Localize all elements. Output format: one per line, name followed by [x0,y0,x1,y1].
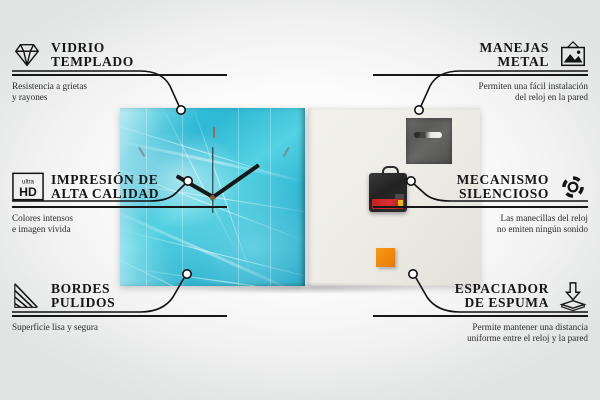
callout-impresion-alta-calidad[interactable]: ultra HD IMPRESIÓN DE ALTA CALIDAD Color… [12,172,227,235]
callout-divider [12,206,227,208]
callout-mecanismo-silencioso[interactable]: MECANISMO SILENCIOSO Las manecillas del … [373,172,588,235]
callout-divider [373,206,588,208]
callout-title: VIDRIO TEMPLADO [51,41,134,70]
callout-subtitle: Resistencia a grietas y rayones [12,81,227,104]
foam-spacer [376,248,395,267]
callout-divider [373,315,588,317]
callout-subtitle: Superficie lisa y segura [12,322,227,333]
ultra-hd-icon: ultra HD [12,172,42,202]
callout-title: MECANISMO SILENCIOSO [457,173,549,202]
callout-title: MANEJAS METAL [480,41,549,70]
callout-subtitle: Permiten una fácil instalación del reloj… [373,81,588,104]
callout-subtitle: Colores intensos e imagen vívida [12,213,227,236]
callout-divider [12,315,227,317]
callout-header: BORDES PULIDOS [12,281,227,311]
svg-text:HD: HD [19,185,37,199]
callout-header: MANEJAS METAL [373,40,588,70]
infographic-canvas: VIDRIO TEMPLADO Resistencia a grietas y … [0,0,600,400]
callout-divider [12,74,227,76]
metal-hanger [406,118,452,164]
callout-subtitle: Permite mantener una distancia uniforme … [373,322,588,345]
callout-header: VIDRIO TEMPLADO [12,40,227,70]
callout-subtitle: Las manecillas del reloj no emiten ningú… [373,213,588,236]
callout-header: ultra HD IMPRESIÓN DE ALTA CALIDAD [12,172,227,202]
picture-frame-icon [558,40,588,70]
callout-manejas-metal[interactable]: MANEJAS METAL Permiten una fácil instala… [373,40,588,103]
gear-icon [558,172,588,202]
callout-header: MECANISMO SILENCIOSO [373,172,588,202]
callout-title: BORDES PULIDOS [51,282,115,311]
callout-espaciador-espuma[interactable]: ESPACIADOR DE ESPUMA Permite mantener un… [373,281,588,344]
callout-title: ESPACIADOR DE ESPUMA [455,282,549,311]
foam-spacer-icon [558,281,588,311]
diamond-icon [12,40,42,70]
callout-vidrio-templado[interactable]: VIDRIO TEMPLADO Resistencia a grietas y … [12,40,227,103]
hanger-slot [414,132,442,138]
callout-title: IMPRESIÓN DE ALTA CALIDAD [51,173,159,202]
callout-divider [373,74,588,76]
callout-header: ESPACIADOR DE ESPUMA [373,281,588,311]
polished-edges-icon [12,281,42,311]
callout-bordes-pulidos[interactable]: BORDES PULIDOS Superficie lisa y segura [12,281,227,333]
